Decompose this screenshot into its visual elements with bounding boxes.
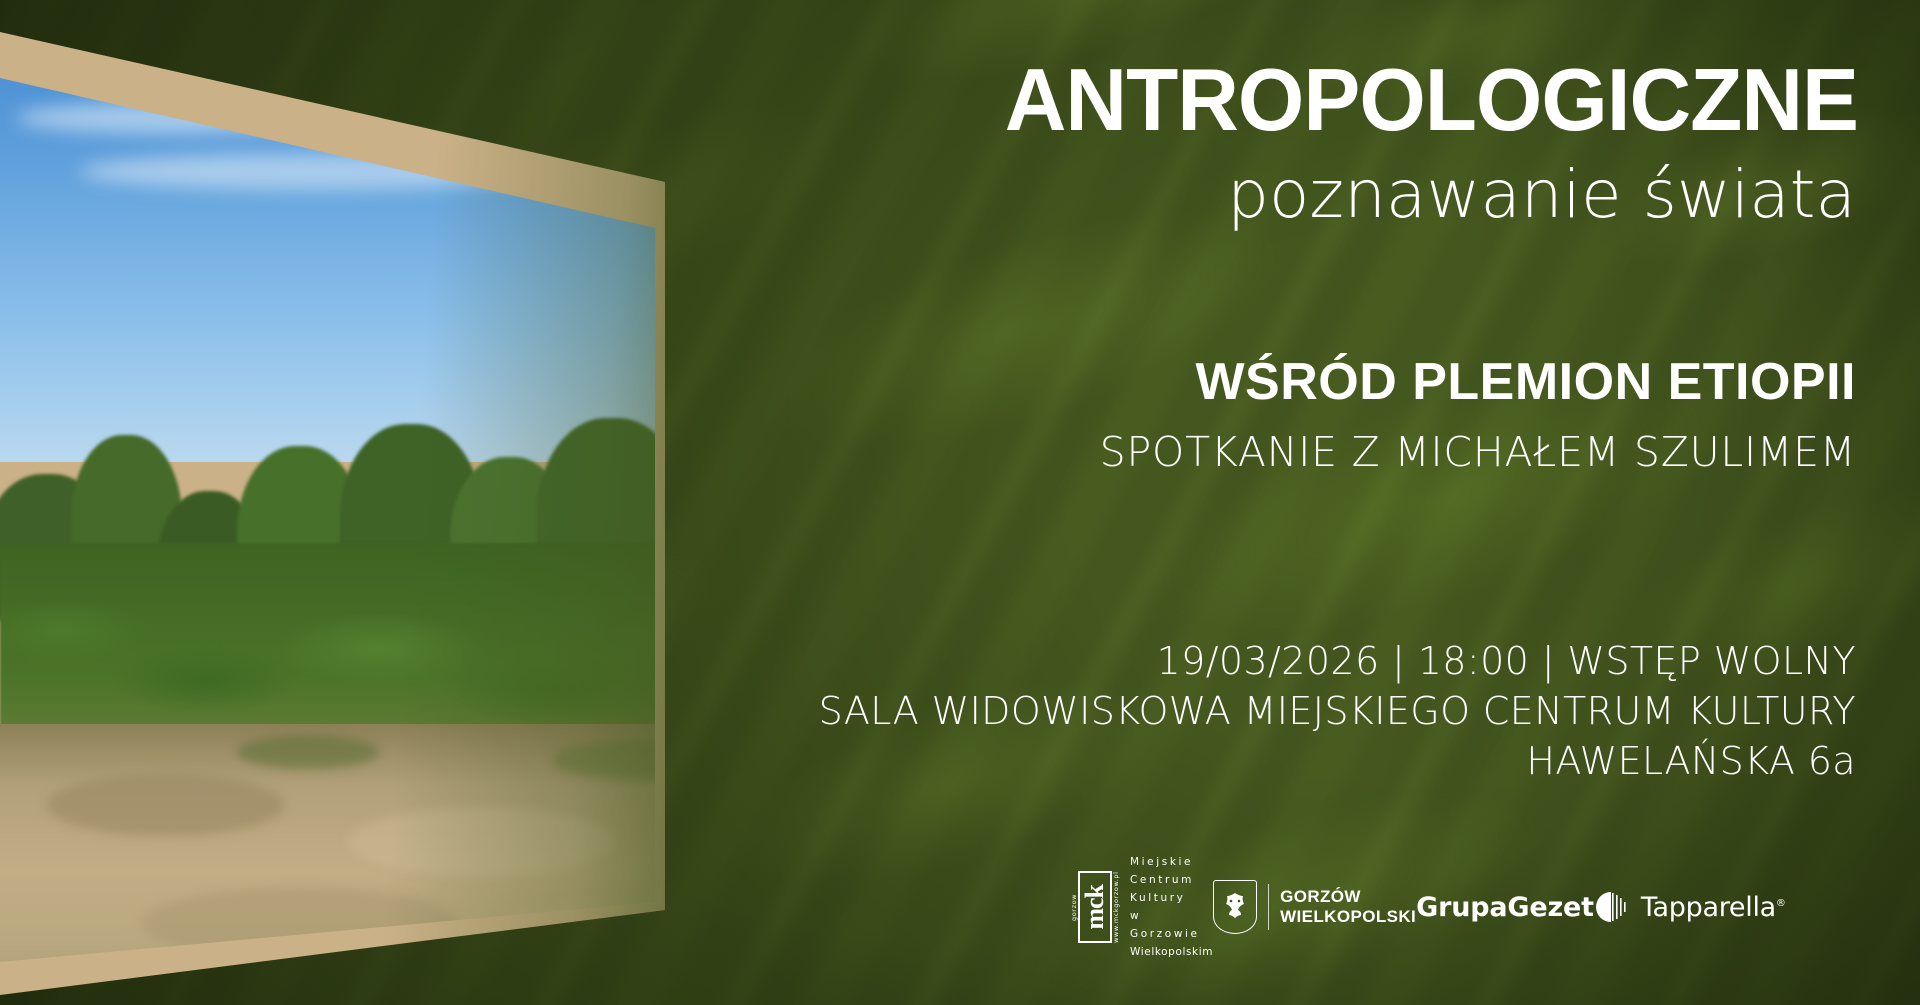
gorzow-wordmark: GORZÓW WIELKOPOLSKI (1280, 887, 1416, 926)
sponsor-logo-strip: gorzow mck www.mckgorzow.pl Miejskie Cen… (1070, 848, 1780, 966)
gorzow-name-line-1: GORZÓW (1280, 887, 1416, 907)
logo-gorzow[interactable]: GORZÓW WIELKOPOLSKI (1213, 880, 1416, 934)
mck-line-2: Centrum (1130, 871, 1213, 889)
mck-box: mck (1078, 871, 1112, 943)
mck-side-left-text: gorzow (1070, 871, 1078, 943)
event-details: 19/03/2026 | 18:00 | WSTĘP WOLNY SALA WI… (676, 636, 1856, 786)
mck-line-4: w Gorzowie (1130, 907, 1213, 943)
gorzow-divider (1268, 884, 1269, 930)
mck-mark-icon: gorzow mck www.mckgorzow.pl (1070, 871, 1120, 943)
event-subtitle: SPOTKANIE Z MICHAŁEM SZULIMEM (676, 432, 1856, 473)
mck-wordmark: Miejskie Centrum Kultury w Gorzowie Wiel… (1130, 853, 1213, 961)
poster-subtitle: poznawanie świata (676, 162, 1856, 228)
tapparella-blind-icon (1594, 890, 1632, 924)
tapparella-trademark: ® (1776, 898, 1786, 909)
gorzow-name-line-2: WIELKOPOLSKI (1280, 907, 1416, 927)
poster-title: ANTROPOLOGICZNE (713, 56, 1858, 144)
mck-line-1: Miejskie (1130, 853, 1213, 871)
tapparella-wordmark: Tapparella® (1641, 892, 1786, 923)
mck-letters: mck (1080, 885, 1110, 930)
detail-line-datetime: 19/03/2026 | 18:00 | WSTĘP WOLNY (676, 636, 1856, 686)
tapparella-name: Tapparella (1641, 892, 1776, 923)
detail-line-venue: SALA WIDOWISKOWA MIEJSKIEGO CENTRUM KULT… (676, 686, 1856, 736)
mck-line-3: Kultury (1130, 889, 1213, 907)
logo-grupagezet[interactable]: GrupaGezet (1416, 892, 1594, 923)
gorzow-crest-icon (1213, 880, 1257, 934)
event-poster: ANTROPOLOGICZNE poznawanie świata WŚRÓD … (0, 0, 1920, 1005)
logo-mck[interactable]: gorzow mck www.mckgorzow.pl Miejskie Cen… (1070, 853, 1213, 961)
grupagezet-wordmark: GrupaGezet (1416, 892, 1594, 923)
logo-tapparella[interactable]: Tapparella® (1594, 890, 1786, 924)
detail-line-address: HAWELAŃSKA 6a (676, 736, 1856, 786)
mck-line-5: Wielkopolskim (1130, 943, 1213, 961)
event-title: WŚRÓD PLEMION ETIOPII (676, 356, 1856, 408)
mck-side-right-url: www.mckgorzow.pl (1112, 871, 1120, 943)
